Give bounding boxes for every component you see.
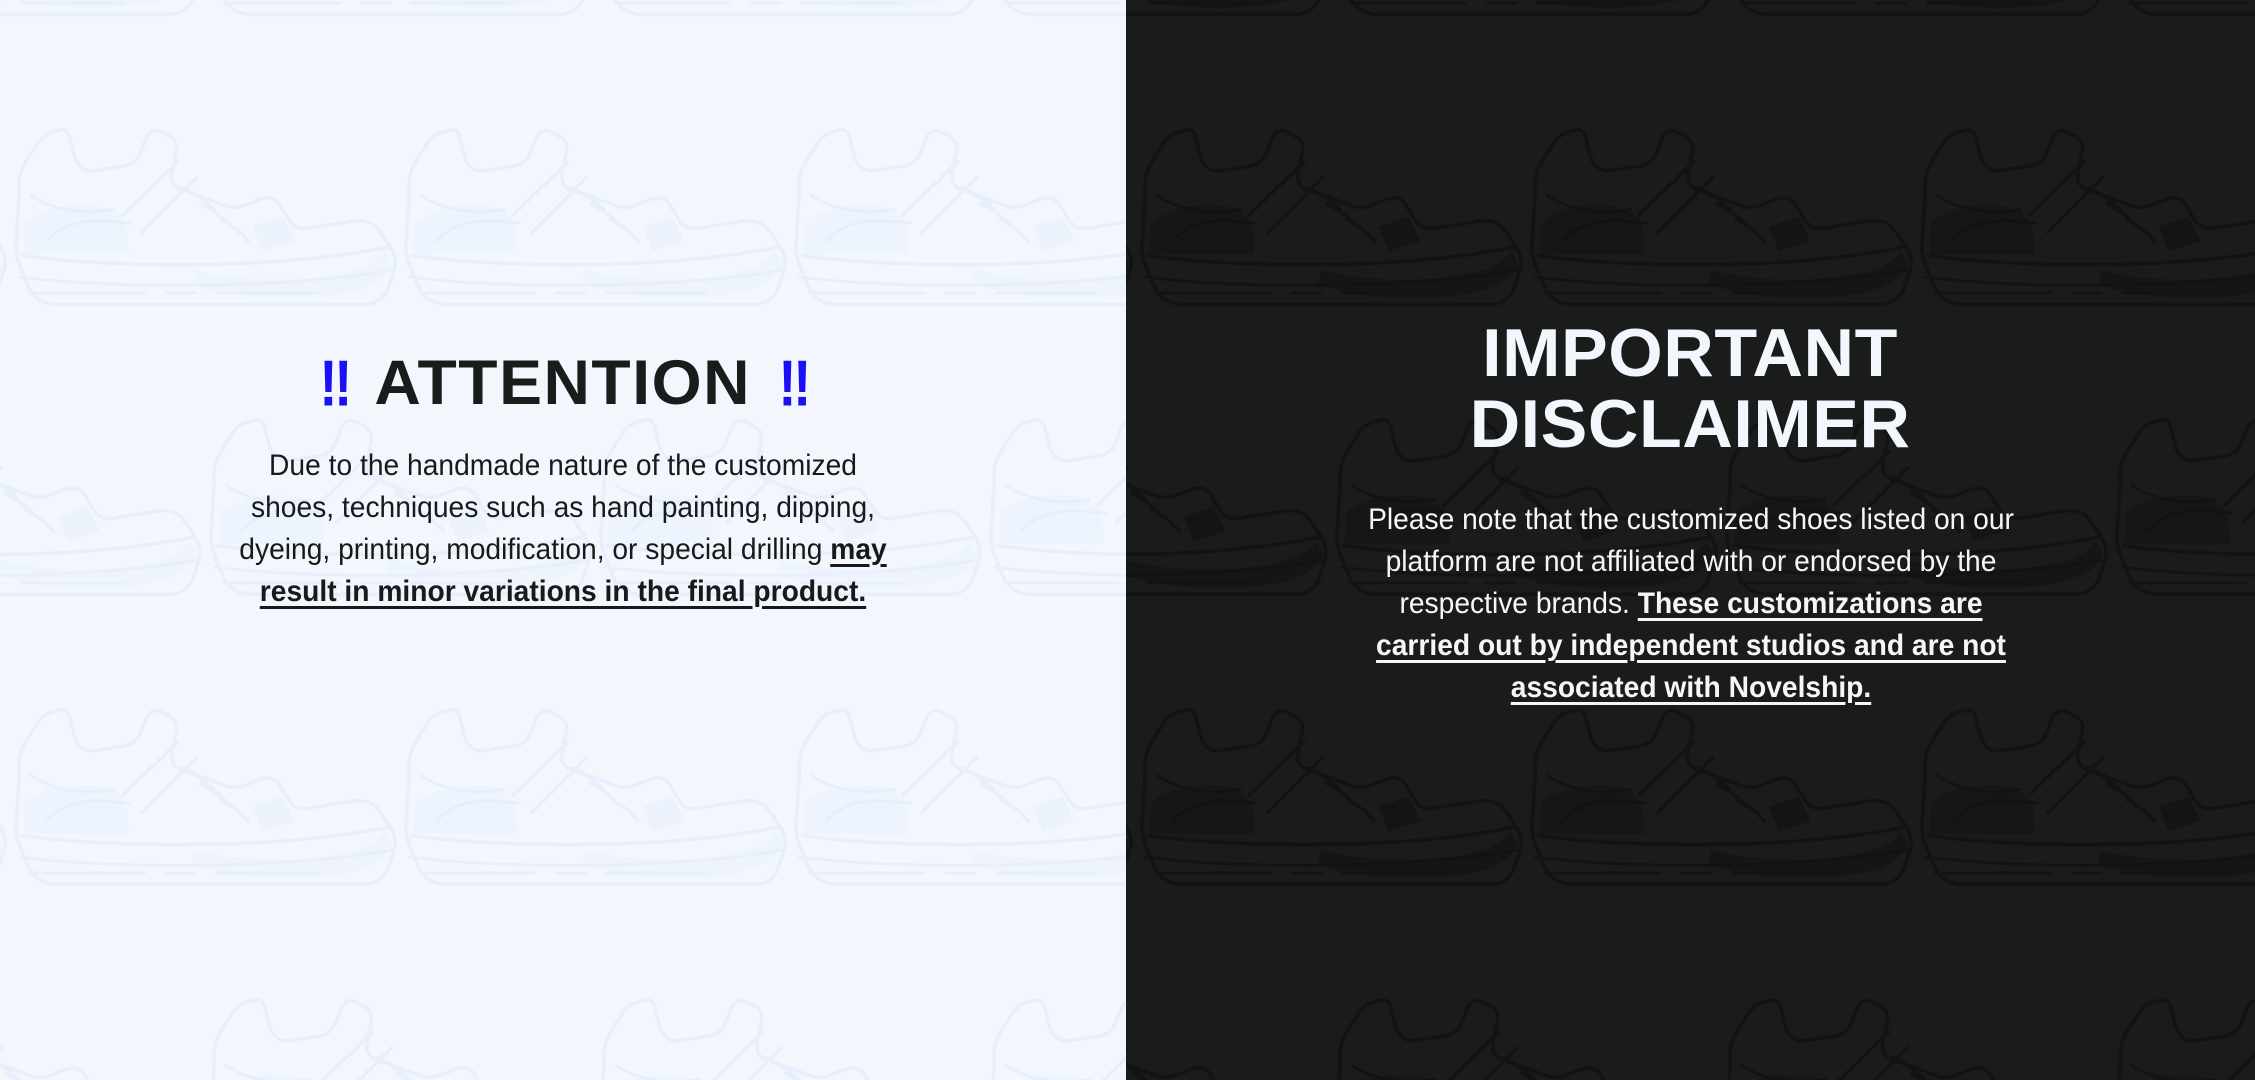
disclaimer-heading-line-2: DISCLAIMER — [1470, 389, 1911, 460]
attention-body-normal: Due to the handmade nature of the custom… — [239, 449, 875, 566]
disclaimer-heading-line-1: IMPORTANT — [1470, 318, 1911, 389]
disclaimer-body: Please note that the customized shoes li… — [1362, 499, 2020, 709]
double-exclamation-icon-right: ‼ — [779, 351, 806, 416]
disclaimer-heading: IMPORTANT DISCLAIMER — [1470, 318, 1911, 459]
attention-heading: ‼ ATTENTION ‼ — [319, 352, 808, 415]
attention-heading-text: ATTENTION — [375, 352, 752, 415]
attention-panel: ‼ ATTENTION ‼ Due to the handmade nature… — [0, 0, 1126, 1080]
disclaimer-panel: IMPORTANT DISCLAIMER Please note that th… — [1126, 0, 2255, 1080]
promo-banner: ‼ ATTENTION ‼ Due to the handmade nature… — [0, 0, 2255, 1080]
disclaimer-content: IMPORTANT DISCLAIMER Please note that th… — [1126, 0, 2255, 709]
attention-body: Due to the handmade nature of the custom… — [234, 445, 892, 613]
double-exclamation-icon-left: ‼ — [320, 351, 347, 416]
attention-content: ‼ ATTENTION ‼ Due to the handmade nature… — [0, 0, 1126, 613]
